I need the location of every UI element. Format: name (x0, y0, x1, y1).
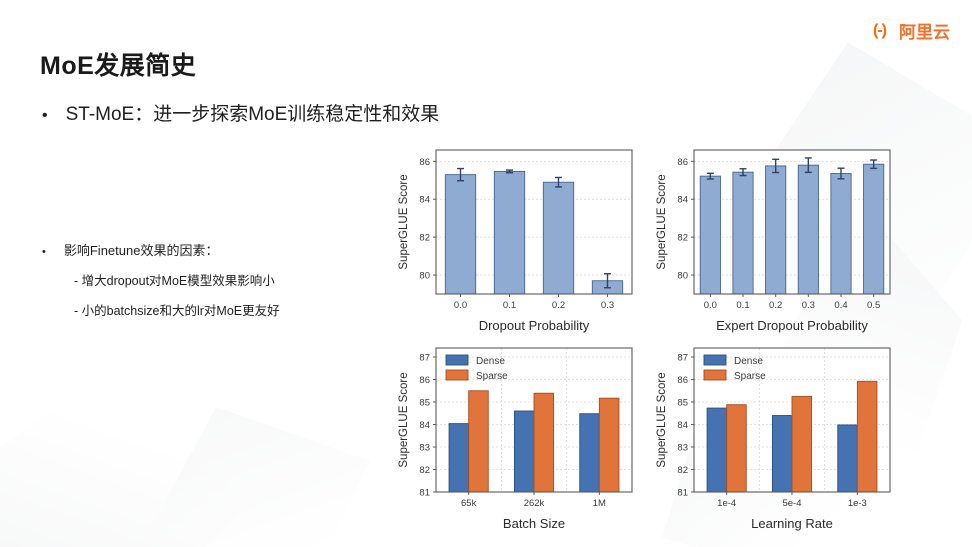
y-tick-label: 87 (677, 352, 688, 363)
bar-0.2 (543, 182, 573, 294)
alibaba-cloud-logo-icon: (-) (865, 21, 894, 41)
y-tick-label: 82 (677, 465, 688, 476)
y-tick-label: 81 (419, 487, 430, 498)
brand-name: 阿里云 (899, 18, 950, 43)
y-tick-label: 85 (677, 397, 688, 408)
chart-dropout-probability: 808284860.00.10.20.3Dropout ProbabilityS… (396, 140, 642, 336)
y-tick-label: 82 (419, 233, 430, 244)
sub-item-2: - 小的batchsize和大的lr对MoE更友好 (74, 300, 280, 319)
x-axis-label: Learning Rate (751, 516, 833, 531)
y-tick-label: 83 (677, 442, 688, 453)
bar-0.3 (798, 165, 818, 294)
x-tick-label: 1e-4 (717, 498, 736, 509)
sub-bullet-block: • 影响Finetune效果的因素： - 增大dropout对MoE模型效果影响… (42, 240, 280, 319)
x-tick-label: 0.1 (736, 300, 749, 311)
bar-dense-5e-4 (772, 416, 792, 493)
bar-dense-1e-3 (838, 425, 858, 492)
dash-marker-icon: - (74, 274, 78, 288)
background-shape-3 (0, 377, 250, 547)
x-tick-label: 0.0 (454, 300, 467, 311)
sub-bullet: • 影响Finetune效果的因素： (42, 240, 280, 259)
legend-swatch-dense (446, 355, 468, 365)
chart-svg-dropout-probability: 808284860.00.10.20.3Dropout ProbabilityS… (396, 140, 642, 336)
legend-swatch-sparse (446, 370, 468, 380)
y-tick-label: 86 (419, 157, 430, 168)
bar-0.4 (831, 173, 851, 294)
x-tick-label: 0.5 (867, 300, 880, 311)
chart-batch-size: 8182838485868765k262k1MBatch SizeSuperGL… (396, 338, 642, 534)
background-shape-4 (150, 407, 370, 547)
chart-expert-dropout-probability: 808284860.00.10.20.30.40.5Expert Dropout… (654, 140, 900, 336)
bar-dense-262k (514, 411, 534, 492)
y-tick-label: 87 (419, 352, 430, 363)
x-tick-label: 0.3 (802, 300, 815, 311)
bullet-marker-icon: • (42, 108, 48, 124)
x-tick-label: 0.2 (769, 300, 782, 311)
y-tick-label: 80 (419, 270, 430, 281)
y-tick-label: 86 (419, 375, 430, 386)
legend-label-sparse: Sparse (476, 371, 508, 382)
x-tick-label: 65k (461, 498, 477, 509)
legend-label-dense: Dense (734, 356, 763, 367)
x-tick-label: 5e-4 (782, 498, 801, 509)
y-tick-label: 81 (677, 487, 688, 498)
x-tick-label: 262k (524, 498, 545, 509)
sub-item-1: - 增大dropout对MoE模型效果影响小 (74, 270, 280, 289)
x-tick-label: 1M (593, 498, 606, 509)
sub-item-1-text: 增大dropout对MoE模型效果影响小 (82, 274, 275, 288)
bar-0.0 (445, 175, 475, 294)
bar-0.1 (494, 171, 524, 294)
sub-bullet-text: 影响Finetune效果的因素： (64, 240, 219, 259)
brand-logo: (-) 阿里云 (865, 18, 950, 43)
bar-dense-1e-4 (707, 408, 727, 492)
page-title: MoE发展简史 (40, 46, 196, 82)
main-bullet: • ST-MoE：进一步探索MoE训练稳定性和效果 (42, 99, 439, 126)
bullet-marker-icon: • (42, 247, 46, 258)
y-tick-label: 85 (419, 397, 430, 408)
bar-0.5 (864, 164, 884, 294)
main-bullet-text: ST-MoE：进一步探索MoE训练稳定性和效果 (66, 99, 440, 126)
x-axis-label: Batch Size (503, 516, 565, 531)
x-tick-label: 0.2 (552, 300, 565, 311)
bar-dense-65k (449, 424, 469, 492)
y-axis-label: SuperGLUE Score (656, 174, 668, 269)
chart-learning-rate: 818283848586871e-45e-41e-3Learning RateS… (654, 338, 900, 534)
y-tick-label: 82 (677, 233, 688, 244)
x-tick-label: 0.1 (503, 300, 516, 311)
y-tick-label: 86 (677, 157, 688, 168)
x-tick-label: 0.3 (601, 300, 614, 311)
y-tick-label: 82 (419, 465, 430, 476)
legend-label-dense: Dense (476, 356, 505, 367)
y-tick-label: 84 (419, 420, 430, 431)
legend-swatch-dense (704, 355, 726, 365)
bar-sparse-1M (599, 398, 619, 492)
x-tick-label: 0.0 (704, 300, 717, 311)
sub-item-2-text: 小的batchsize和大的lr对MoE更友好 (82, 304, 280, 318)
y-axis-label: SuperGLUE Score (398, 174, 410, 269)
bar-sparse-5e-4 (792, 396, 812, 492)
bar-0.2 (766, 166, 786, 294)
x-tick-label: 1e-3 (848, 498, 867, 509)
bar-sparse-1e-4 (727, 405, 747, 492)
x-axis-label: Dropout Probability (479, 318, 590, 333)
chart-svg-batch-size: 8182838485868765k262k1MBatch SizeSuperGL… (396, 338, 642, 534)
y-tick-label: 84 (419, 195, 430, 206)
chart-svg-learning-rate: 818283848586871e-45e-41e-3Learning RateS… (654, 338, 900, 534)
bar-sparse-65k (469, 391, 489, 492)
slide-canvas: (-) 阿里云 MoE发展简史 • ST-MoE：进一步探索MoE训练稳定性和效… (0, 0, 972, 547)
bar-sparse-1e-3 (857, 381, 877, 492)
y-axis-label: SuperGLUE Score (398, 372, 410, 467)
bar-0.0 (700, 176, 720, 294)
legend-label-sparse: Sparse (734, 371, 766, 382)
bar-sparse-262k (534, 393, 554, 492)
dash-marker-icon: - (74, 304, 78, 318)
x-tick-label: 0.4 (834, 300, 847, 311)
y-axis-label: SuperGLUE Score (656, 372, 668, 467)
bar-dense-1M (580, 414, 600, 492)
y-tick-label: 80 (677, 270, 688, 281)
y-tick-label: 86 (677, 375, 688, 386)
legend-swatch-sparse (704, 370, 726, 380)
y-tick-label: 84 (677, 195, 688, 206)
y-tick-label: 83 (419, 442, 430, 453)
bar-0.1 (733, 172, 753, 294)
y-tick-label: 84 (677, 420, 688, 431)
x-axis-label: Expert Dropout Probability (716, 318, 868, 333)
chart-svg-expert-dropout-probability: 808284860.00.10.20.30.40.5Expert Dropout… (654, 140, 900, 336)
